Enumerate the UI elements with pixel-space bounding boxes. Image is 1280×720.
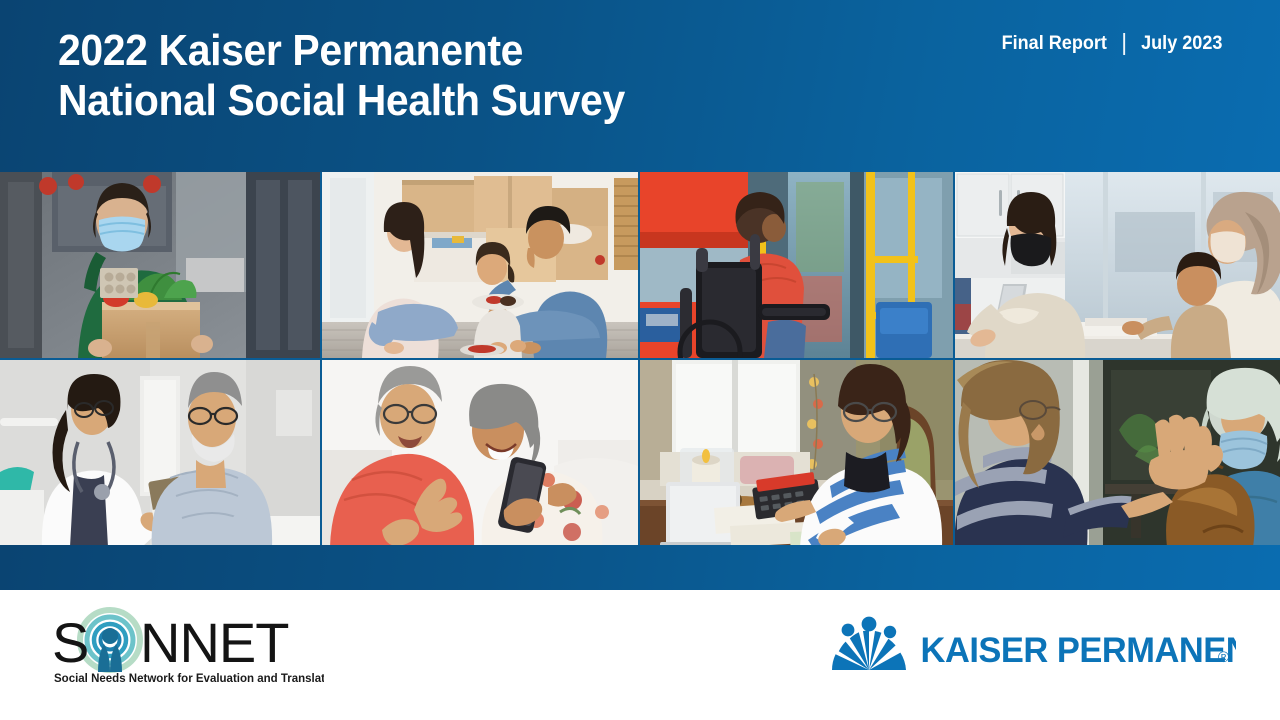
report-status-label: Final Report [1001,33,1106,55]
photo-couple-phone-image [322,360,638,547]
photo-office-consult-image [955,172,1280,358]
photo-window-visit [955,360,1280,547]
bottom-accent-band [0,545,1280,590]
photo-groceries-image [0,172,320,358]
photo-couple-phone [322,360,638,547]
sonnet-logo: S NNET Social Needs Network for Evaluati… [44,606,324,688]
kaiser-permanente-logo-mark: KAISER PERMANENTE ® [826,616,1236,672]
page-title-line1: 2022 Kaiser Permanente [58,26,523,75]
page-title-line2: National Social Health Survey [58,76,625,125]
meta-divider [1123,33,1125,55]
footer: S NNET Social Needs Network for Evaluati… [0,590,1280,720]
photo-collage [0,172,1280,545]
photo-groceries [0,172,320,358]
sonnet-letters-nnet: NNET [140,611,288,674]
sonnet-logo-mark: S NNET Social Needs Network for Evaluati… [44,606,324,688]
kaiser-permanente-logo: KAISER PERMANENTE ® [826,616,1236,672]
photo-wheelchair-bus [640,172,953,358]
photo-office-consult [955,172,1280,358]
sonnet-tagline: Social Needs Network for Evaluation and … [54,673,324,685]
report-meta: Final Report July 2023 [1001,33,1222,55]
photo-wheelchair-bus-image [640,172,953,358]
photo-family-moving-image [322,172,638,358]
photo-bills-calculator-image [640,360,953,547]
header-banner: 2022 Kaiser Permanente National Social H… [0,0,1280,172]
sonnet-letter-s: S [52,611,89,674]
report-cover-slide: 2022 Kaiser Permanente National Social H… [0,0,1280,720]
photo-doctor-patient-image [0,360,320,547]
kaiser-wordmark: KAISER PERMANENTE [921,632,1236,670]
registered-trademark-icon: ® [1218,649,1229,666]
photo-bills-calculator [640,360,953,547]
report-date-label: July 2023 [1141,33,1222,55]
page-title: 2022 Kaiser Permanente National Social H… [58,26,625,126]
photo-family-moving [322,172,638,358]
photo-doctor-patient [0,360,320,547]
photo-window-visit-image [955,360,1280,547]
